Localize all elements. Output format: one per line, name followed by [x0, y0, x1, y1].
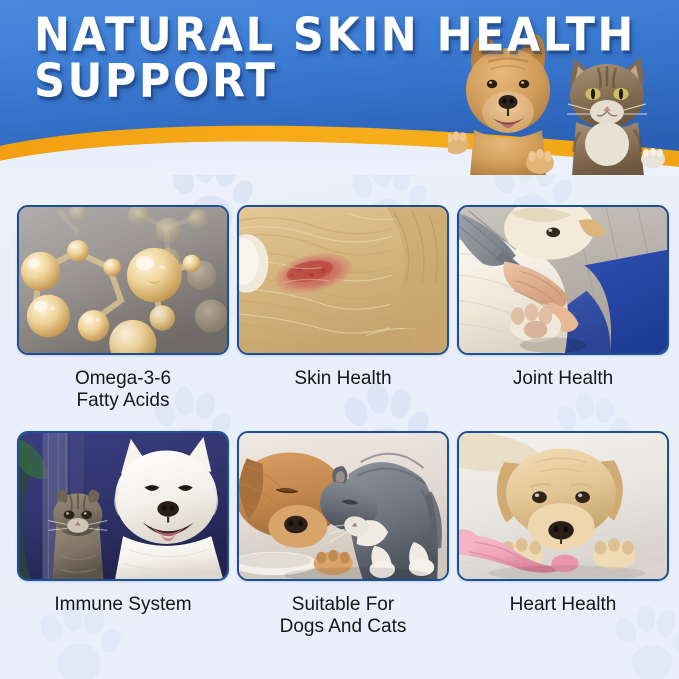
title-line-2: Support — [34, 60, 504, 105]
feature-card-suitable-for-dogs-and-cats[interactable]: Suitable For Dogs And Cats — [237, 431, 449, 638]
caption-line: Omega-3-6 — [17, 368, 229, 390]
cat-and-white-dog-photo — [19, 433, 227, 579]
feature-caption: Joint Health — [457, 368, 669, 390]
caption-line: Dogs And Cats — [237, 616, 449, 638]
feature-card-heart-health[interactable]: Heart Health — [457, 431, 669, 616]
feature-card-image-frame — [457, 431, 669, 581]
caption-line: Suitable For — [237, 594, 449, 616]
feature-caption: Heart Health — [457, 594, 669, 616]
feature-card-joint-health[interactable]: Joint Health — [457, 205, 669, 390]
labrador-puppy-with-toy-photo — [459, 433, 667, 579]
golden-retriever-and-cat-photo — [239, 433, 447, 579]
feature-caption: Omega-3-6 Fatty Acids — [17, 368, 229, 412]
caption-line: Fatty Acids — [17, 390, 229, 412]
feature-card-skin-health[interactable]: Skin Health — [237, 205, 449, 390]
dog-fur-irritated-skin-photo — [239, 207, 447, 353]
feature-card-image-frame — [237, 205, 449, 355]
feature-row-2: Immune System — [0, 431, 679, 631]
feature-card-image-frame — [17, 431, 229, 581]
feature-card-image-frame — [457, 205, 669, 355]
feature-card-image-frame — [17, 205, 229, 355]
feature-caption: Immune System — [17, 594, 229, 616]
feature-card-omega-3-6-fatty-acids[interactable]: Omega-3-6 Fatty Acids — [17, 205, 229, 412]
feature-card-image-frame — [237, 431, 449, 581]
hand-holding-dog-paw-photo — [459, 207, 667, 353]
feature-caption: Skin Health — [237, 368, 449, 390]
omega-molecule-droplets-photo — [19, 207, 227, 353]
feature-caption: Suitable For Dogs And Cats — [237, 594, 449, 638]
caption-line: Joint Health — [457, 368, 669, 390]
title-line-1: Natural Skin Health — [34, 14, 504, 59]
feature-row-1: Omega-3-6 Fatty Acids — [0, 205, 679, 405]
page-title: Natural Skin Health Support — [34, 14, 504, 102]
feature-grid: Omega-3-6 Fatty Acids — [0, 205, 679, 679]
feature-card-immune-system[interactable]: Immune System — [17, 431, 229, 616]
dog-in-photo — [115, 437, 223, 579]
caption-line: Immune System — [17, 594, 229, 616]
caption-line: Skin Health — [237, 368, 449, 390]
infographic-page: Natural Skin Health Support — [0, 0, 679, 679]
caption-line: Heart Health — [457, 594, 669, 616]
header-banner: Natural Skin Health Support — [0, 0, 679, 175]
